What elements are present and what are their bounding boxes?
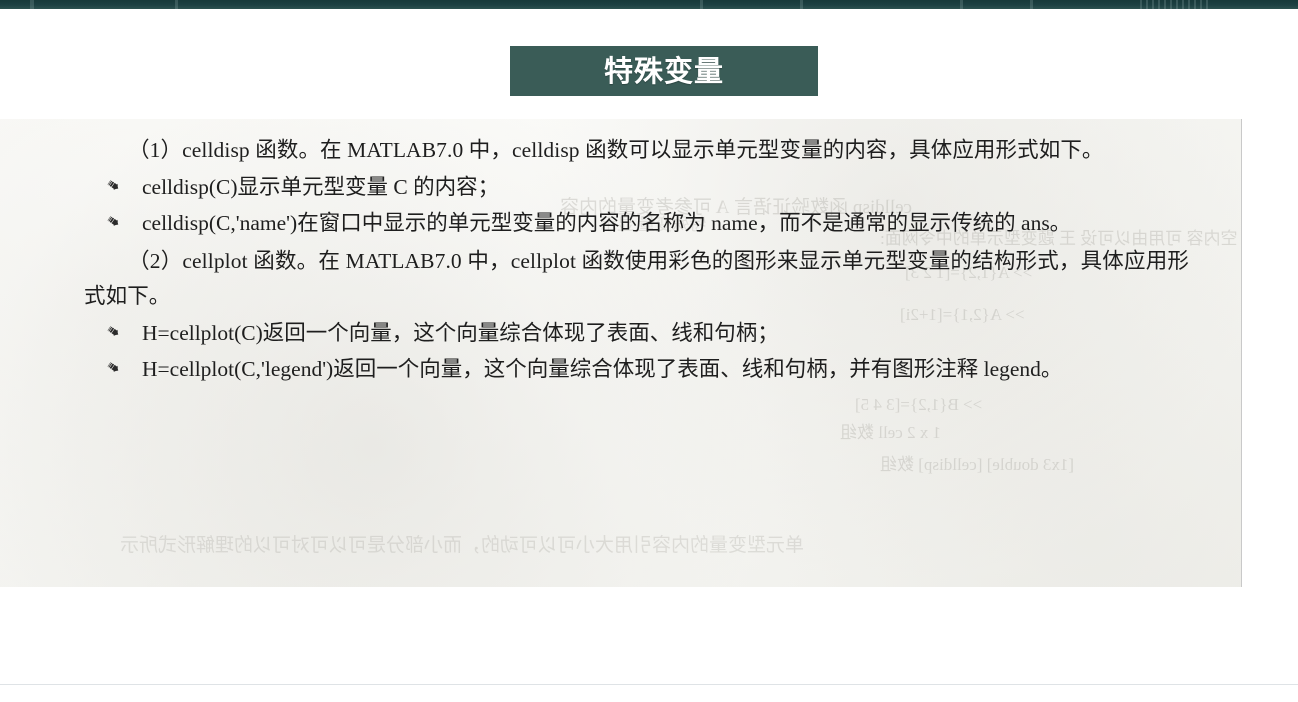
paragraph-cellplot: （2）cellplot 函数。在 MATLAB7.0 中，cellplot 函数… [84,244,1189,314]
slide-title-banner: 特殊变量 [510,46,818,96]
previous-slide-strip [0,0,1298,9]
bleed-through-text: 单元型变量的内容引用大小可以可动的，而小部分是可以可对可以的理解形式所示 [120,531,804,562]
southeast-arrow-icon: ➠ [100,316,127,347]
southeast-arrow-icon: ➠ [100,352,127,383]
list-item-label: H=cellplot(C)返回一个向量，这个向量综合体现了表面、线和句柄； [142,321,779,345]
southeast-arrow-icon: ➠ [100,206,127,237]
list-item-label: celldisp(C)显示单元型变量 C 的内容； [142,175,499,199]
slide-bottom-divider [0,684,1298,685]
list-item: ➠ celldisp(C,'name')在窗口中显示的单元型变量的内容的名称为 … [84,206,1189,241]
scanned-text-column: （1）celldisp 函数。在 MATLAB7.0 中，celldisp 函数… [0,119,1241,387]
bleed-through-text: 1 x 2 cell 数组 [840,419,941,447]
list-item-label: celldisp(C,'name')在窗口中显示的单元型变量的内容的名称为 na… [142,211,1071,235]
bullet-list-cellplot: ➠ H=cellplot(C)返回一个向量，这个向量综合体现了表面、线和句柄； … [84,316,1189,387]
list-item: ➠ celldisp(C)显示单元型变量 C 的内容； [84,170,1189,205]
bullet-list-celldisp: ➠ celldisp(C)显示单元型变量 C 的内容； ➠ celldisp(C… [84,170,1189,241]
scanned-book-page: celldisp 函数验证语言 A 可参考变量的内容 特殊变量 显示 >> 空内… [0,119,1242,587]
page-title: 特殊变量 [604,57,724,86]
list-item-label: H=cellplot(C,'legend')返回一个向量，这个向量综合体现了表面… [142,357,1062,381]
list-item: ➠ H=cellplot(C,'legend')返回一个向量，这个向量综合体现了… [84,352,1189,387]
bleed-through-text: >> B{1,2}=[3 4 5] [855,391,982,419]
list-item: ➠ H=cellplot(C)返回一个向量，这个向量综合体现了表面、线和句柄； [84,316,1189,351]
bleed-through-text: [1x3 double] [celldisp] 数组 [880,451,1074,479]
southeast-arrow-icon: ➠ [100,170,127,201]
slide-canvas: 特殊变量 celldisp 函数验证语言 A 可参考变量的内容 特殊变量 显示 … [0,9,1298,693]
paragraph-celldisp: （1）celldisp 函数。在 MATLAB7.0 中，celldisp 函数… [84,133,1189,168]
